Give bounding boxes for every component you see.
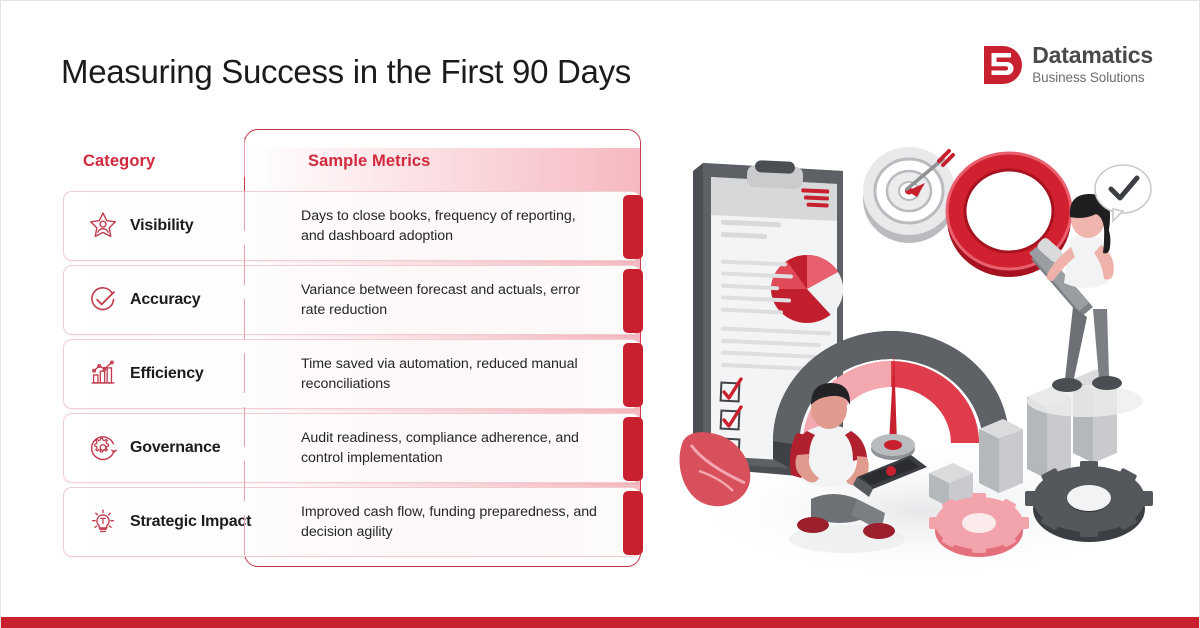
row-metric-text: Variance between forecast and actuals, e… bbox=[301, 280, 601, 320]
lightbulb-icon bbox=[76, 506, 130, 538]
column-header-category: Category bbox=[83, 152, 244, 171]
row-category-label: Accuracy bbox=[130, 291, 250, 309]
infographic-page: Measuring Success in the First 90 Days D… bbox=[0, 0, 1200, 628]
row-category-label: Efficiency bbox=[130, 365, 250, 383]
row-metric-text: Audit readiness, compliance adherence, a… bbox=[301, 428, 601, 468]
row-category-label: Visibility bbox=[130, 217, 250, 235]
row-accent-tab bbox=[623, 269, 643, 333]
table-row[interactable]: Efficiency Time saved via automation, re… bbox=[63, 339, 641, 409]
row-accent-tab bbox=[623, 491, 643, 555]
gear-refresh-icon bbox=[76, 432, 130, 464]
page-title: Measuring Success in the First 90 Days bbox=[61, 53, 631, 91]
brand-logo: Datamatics Business Solutions bbox=[981, 43, 1153, 85]
magnifying-glass bbox=[947, 153, 1093, 317]
dartboard-target-with-arrow bbox=[863, 147, 955, 243]
bar-chart-trend-icon bbox=[76, 358, 130, 390]
row-accent-tab bbox=[623, 417, 643, 481]
brand-tagline: Business Solutions bbox=[1032, 71, 1153, 85]
table-row[interactable]: Governance Audit readiness, compliance a… bbox=[63, 413, 641, 483]
datamatics-d-logo-icon bbox=[981, 43, 1023, 85]
table-header-row: Category Sample Metrics bbox=[63, 129, 641, 193]
row-accent-tab bbox=[623, 343, 643, 407]
isometric-business-analytics-illustration bbox=[661, 111, 1181, 581]
row-metric-text: Days to close books, frequency of report… bbox=[301, 206, 601, 246]
row-category-label: Strategic Impact bbox=[130, 513, 250, 531]
check-circle-icon bbox=[76, 284, 130, 316]
column-header-metrics: Sample Metrics bbox=[308, 152, 430, 171]
row-metric-text: Improved cash flow, funding preparedness… bbox=[301, 502, 601, 542]
bottom-accent-bar bbox=[1, 617, 1200, 628]
table-row[interactable]: Visibility Days to close books, frequenc… bbox=[63, 191, 641, 261]
brand-text-block: Datamatics Business Solutions bbox=[1032, 44, 1153, 85]
brand-name: Datamatics bbox=[1032, 44, 1153, 67]
table-row[interactable]: Strategic Impact Improved cash flow, fun… bbox=[63, 487, 641, 557]
row-accent-tab bbox=[623, 195, 643, 259]
table-row[interactable]: Accuracy Variance between forecast and a… bbox=[63, 265, 641, 335]
column-divider bbox=[244, 137, 245, 567]
row-category-label: Governance bbox=[130, 439, 250, 457]
row-metric-text: Time saved via automation, reduced manua… bbox=[301, 354, 601, 394]
table-body: Visibility Days to close books, frequenc… bbox=[63, 191, 641, 561]
star-person-icon bbox=[76, 210, 130, 242]
metrics-table: Category Sample Metrics Visibility Days … bbox=[63, 129, 641, 569]
